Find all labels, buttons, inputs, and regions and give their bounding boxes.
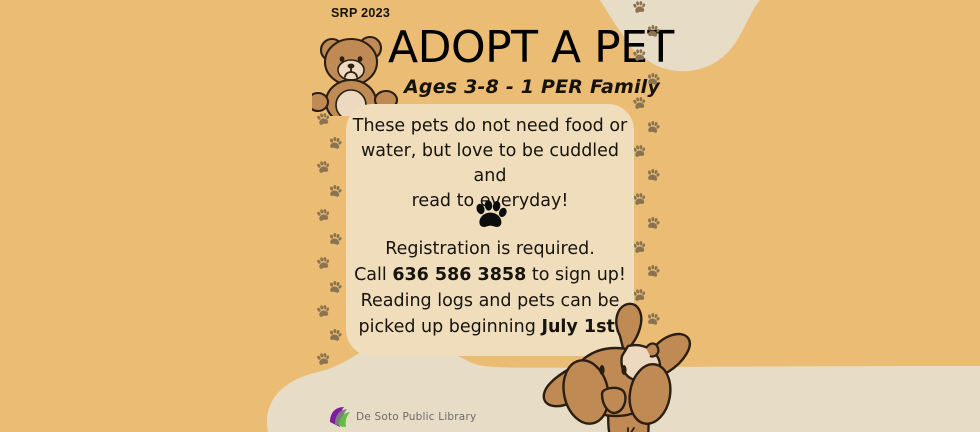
paw-print-icon [315,111,331,127]
de-soto-public-library-logo-icon [328,406,352,428]
paw-print-icon [315,159,331,175]
paw-print-icon [327,279,343,295]
paw-print-icon [645,23,661,39]
paw-print-icon [327,327,343,343]
paw-print-icon [645,167,661,183]
paw-print-icon [631,0,647,15]
paw-print-icon [315,303,331,319]
paw-print-icon [327,135,343,151]
paw-print-icon [473,200,507,230]
phone-number[interactable]: 636 586 3858 [392,265,526,285]
paw-print-icon [645,263,661,279]
paw-print-icon [315,351,331,367]
library-logo-text: De Soto Public Library [356,411,476,423]
intro-line-2: water, but love to be cuddled and [346,139,634,189]
intro-line-1: These pets do not need food or [346,114,634,139]
pickup-prefix: picked up beginning [358,317,541,337]
card-intro-text: These pets do not need food or water, bu… [346,114,634,214]
paw-print-icon [645,215,661,231]
signup-suffix: to sign up! [526,265,626,285]
page-title: ADOPT A PET [388,24,674,72]
paw-print-icon [327,231,343,247]
paw-print-icon [631,47,647,63]
flyer-canvas: SRP 2023 ADOPT A PET Ages 3-8 - 1 PER Fa… [0,0,980,432]
detail-line-2: Call 636 586 3858 to sign up! [346,262,634,288]
eyebrow-srp-year: SRP 2023 [331,6,390,20]
page-subtitle: Ages 3-8 - 1 PER Family [404,76,660,98]
call-label: Call [354,265,392,285]
detail-line-1: Registration is required. [346,236,634,262]
paw-print-icon [631,95,647,111]
paw-print-icon [315,255,331,271]
stuffed-dog-illustration [524,296,720,432]
paw-print-icon [645,119,661,135]
paw-print-icon [645,71,661,87]
paw-print-icon [315,207,331,223]
teddy-bear-illustration [312,28,398,116]
paw-print-icon [327,183,343,199]
library-logo: De Soto Public Library [328,406,476,428]
